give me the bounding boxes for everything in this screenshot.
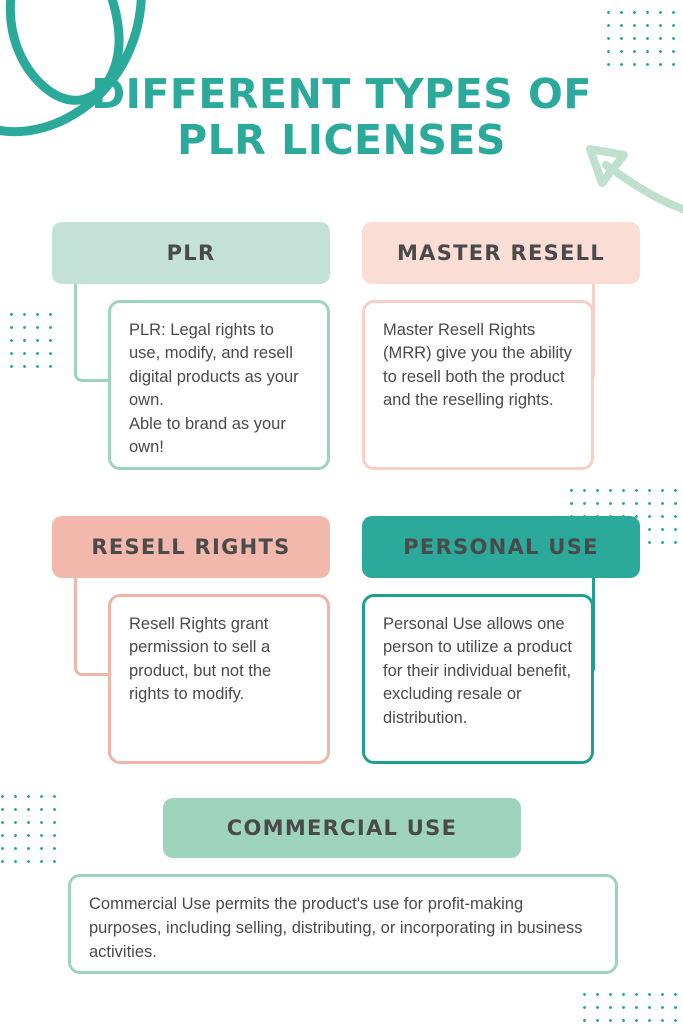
card-header-commercial-use[interactable]: COMMERCIAL USE: [163, 798, 521, 858]
card-header-label-master-resell: MASTER RESELL: [397, 241, 605, 265]
card-header-plr[interactable]: PLR: [52, 222, 330, 284]
page-title: DIFFERENT TYPES OF PLR LICENSES: [0, 72, 683, 164]
card-header-label-plr: PLR: [167, 241, 216, 265]
card-header-personal-use[interactable]: PERSONAL USE: [362, 516, 640, 578]
infographic-canvas: DIFFERENT TYPES OF PLR LICENSES PLR PLR:…: [0, 0, 683, 1024]
card-header-master-resell[interactable]: MASTER RESELL: [362, 222, 640, 284]
card-body-master-resell: Master Resell Rights (MRR) give you the …: [362, 300, 594, 470]
card-body-plr: PLR: Legal rights to use, modify, and re…: [108, 300, 330, 470]
dot-grid-left-lower: [0, 790, 58, 865]
card-body-resell-rights: Resell Rights grant permission to sell a…: [108, 594, 330, 764]
card-body-personal-use: Personal Use allows one person to utiliz…: [362, 594, 594, 764]
title-line-2: PLR LICENSES: [0, 118, 683, 164]
dot-grid-bottom-right: [578, 988, 683, 1028]
card-header-label-personal-use: PERSONAL USE: [403, 535, 599, 559]
card-body-commercial-use: Commercial Use permits the product's use…: [68, 874, 618, 974]
card-header-resell-rights[interactable]: RESELL RIGHTS: [52, 516, 330, 578]
dot-grid-top-right: [602, 6, 683, 68]
card-header-label-resell-rights: RESELL RIGHTS: [91, 535, 290, 559]
dot-grid-left-upper: [0, 308, 54, 370]
card-header-label-commercial-use: COMMERCIAL USE: [227, 816, 457, 840]
title-line-1: DIFFERENT TYPES OF: [91, 70, 592, 118]
